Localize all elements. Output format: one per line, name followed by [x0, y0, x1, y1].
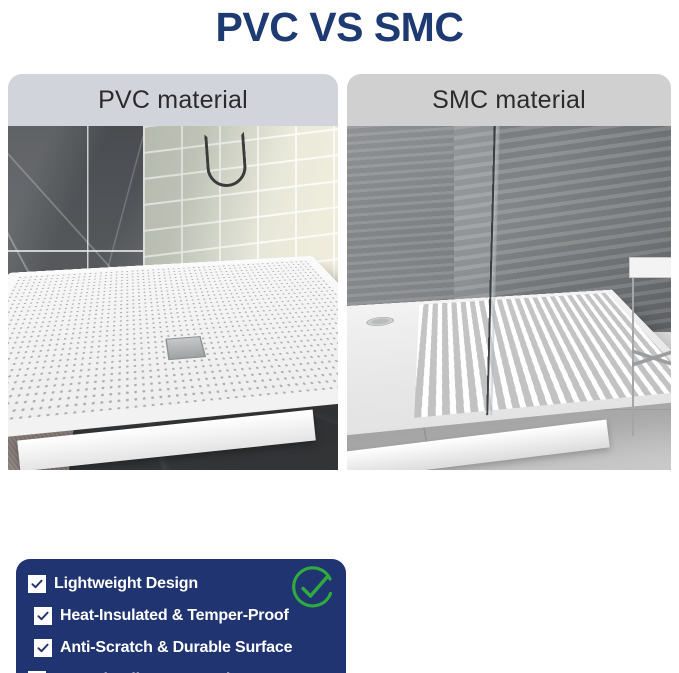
- list-item: Lightweight Design: [28, 575, 334, 593]
- smc-scene: [347, 126, 671, 470]
- pvc-feature-list: Lightweight Design Heat-Insulated & Temp…: [16, 559, 346, 673]
- page-title: PVC VS SMC: [0, 2, 679, 52]
- drain-icon: [164, 336, 205, 360]
- stool-top: [629, 257, 671, 278]
- smc-header: SMC material: [347, 74, 671, 126]
- pvc-photo: [8, 126, 338, 470]
- wire-stool: [629, 257, 671, 436]
- stool-legs: [632, 278, 671, 435]
- pvc-benefits-panel: Lightweight Design Heat-Insulated & Temp…: [16, 559, 346, 673]
- checkbox-checked-icon: [34, 607, 52, 625]
- pvc-column: PVC material: [8, 74, 338, 470]
- shower-hose-icon: [204, 132, 248, 189]
- list-item-label: Heat-Insulated & Temper-Proof: [60, 607, 289, 625]
- checkbox-checked-icon: [28, 575, 46, 593]
- list-item: Heat-Insulated & Temper-Proof: [34, 607, 334, 625]
- circle-check-icon: [290, 565, 336, 611]
- pvc-header: PVC material: [8, 74, 338, 126]
- list-item-label: Lightweight Design: [54, 575, 198, 593]
- list-item: Anti-Scratch & Durable Surface: [34, 639, 334, 657]
- list-item-label: Anti-Scratch & Durable Surface: [60, 639, 292, 657]
- smc-photo: [347, 126, 671, 470]
- checkbox-checked-icon: [34, 639, 52, 657]
- drain-icon: [365, 316, 394, 327]
- pvc-scene: [8, 126, 338, 470]
- comparison-infographic: PVC VS SMC PVC material: [0, 0, 679, 673]
- smc-column: SMC material: [347, 74, 671, 470]
